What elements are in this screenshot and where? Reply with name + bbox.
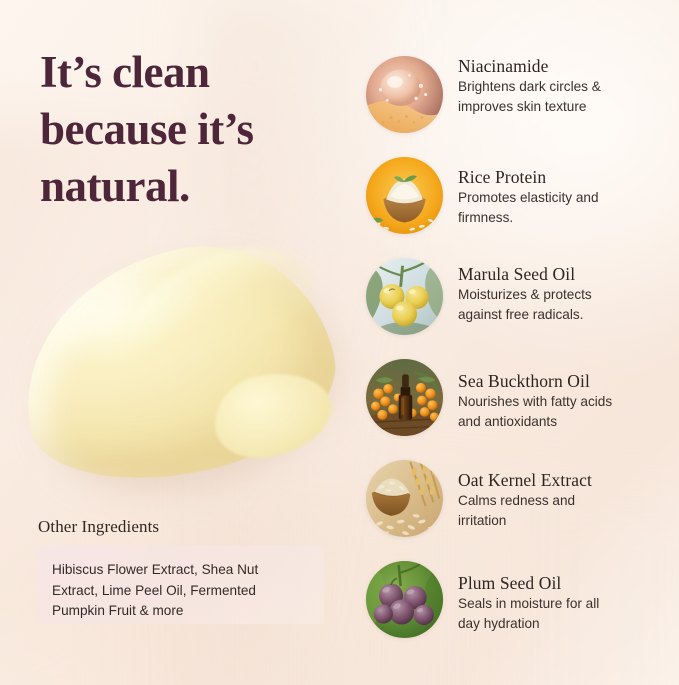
marula-fruit-icon — [366, 258, 443, 335]
ingredient-text: Marula Seed Oil Moisturizes & protects a… — [458, 264, 666, 324]
ingredient-name: Oat Kernel Extract — [458, 470, 666, 490]
sea-buckthorn-bottle-icon — [366, 359, 443, 436]
ingredient-text: Niacinamide Brightens dark circles & imp… — [458, 56, 666, 116]
plum-fruit-icon — [366, 561, 443, 638]
headline-line-1: It’s clean — [40, 44, 350, 101]
ingredient-name: Sea Buckthorn Oil — [458, 371, 666, 391]
ingredient-description: Promotes elasticity and firmness. — [458, 188, 666, 227]
ingredient-text: Sea Buckthorn Oil Nourishes with fatty a… — [458, 371, 666, 431]
list-item: Sea Buckthorn Oil Nourishes with fatty a… — [366, 357, 666, 458]
ingredient-text: Plum Seed Oil Seals in moisture for all … — [458, 573, 666, 633]
oat-kernel-bowl-icon — [366, 460, 443, 537]
ingredient-description: Brightens dark circles & improves skin t… — [458, 77, 666, 116]
ingredient-name: Marula Seed Oil — [458, 264, 666, 284]
list-item: Plum Seed Oil Seals in moisture for all … — [366, 559, 666, 660]
ingredient-infographic: It’s clean because it’s natural. Other I… — [0, 0, 679, 685]
list-item: Rice Protein Promotes elasticity and fir… — [366, 155, 666, 256]
ingredient-text: Rice Protein Promotes elasticity and fir… — [458, 167, 666, 227]
ingredient-name: Plum Seed Oil — [458, 573, 666, 593]
headline-line-2: because it’s — [40, 101, 350, 158]
cream-swatch — [8, 232, 358, 512]
ingredient-description: Seals in moisture for all day hydration — [458, 594, 666, 633]
ingredient-name: Rice Protein — [458, 167, 666, 187]
ingredient-description: Calms redness and irritation — [458, 491, 666, 530]
other-ingredients-heading: Other Ingredients — [38, 517, 159, 537]
headline: It’s clean because it’s natural. — [40, 44, 350, 215]
ingredient-description: Moisturizes & protects against free radi… — [458, 285, 666, 324]
ingredient-description: Nourishes with fatty acids and antioxida… — [458, 392, 666, 431]
list-item: Oat Kernel Extract Calms redness and irr… — [366, 458, 666, 559]
ingredient-text: Oat Kernel Extract Calms redness and irr… — [458, 470, 666, 530]
other-ingredients-text: Hibiscus Flower Extract, Shea Nut Extrac… — [52, 560, 320, 622]
list-item: Niacinamide Brightens dark circles & imp… — [366, 54, 666, 155]
niacinamide-droplet-icon — [366, 56, 443, 133]
ingredient-list: Niacinamide Brightens dark circles & imp… — [366, 54, 666, 660]
rice-protein-bowl-icon — [366, 157, 443, 234]
list-item: Marula Seed Oil Moisturizes & protects a… — [366, 256, 666, 357]
headline-line-3: natural. — [40, 158, 350, 215]
ingredient-name: Niacinamide — [458, 56, 666, 76]
